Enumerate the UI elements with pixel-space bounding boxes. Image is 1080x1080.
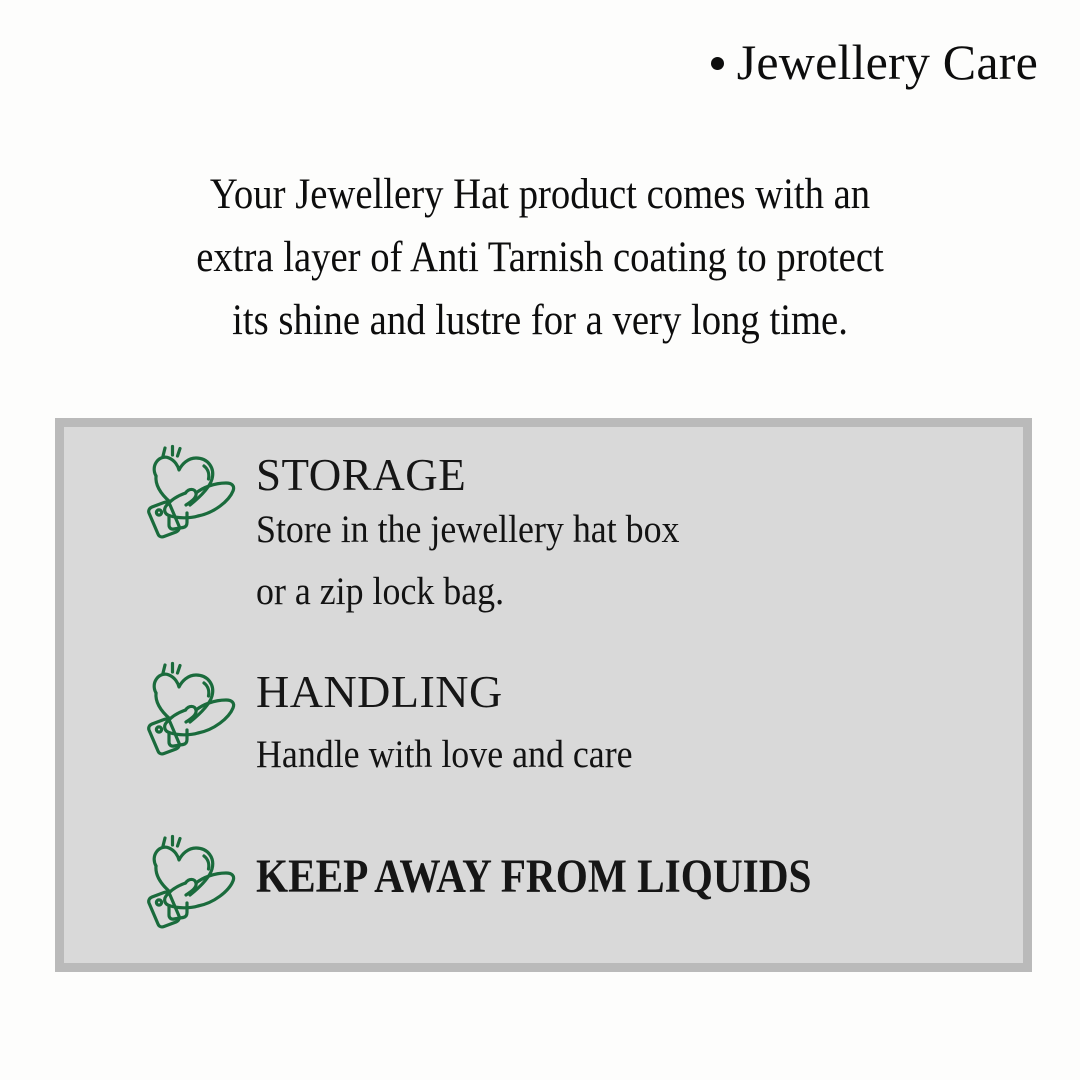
bullet-icon xyxy=(711,57,724,70)
care-item-text: STORAGE Store in the jewellery hat box o… xyxy=(256,443,716,625)
care-desc-storage-line-2: or a zip lock bag. xyxy=(256,559,679,625)
care-item-handling: HANDLING Handle with love and care xyxy=(142,660,665,784)
care-heading-storage: STORAGE xyxy=(256,449,716,501)
heart-in-hand-icon xyxy=(142,660,242,760)
intro-paragraph: Your Jewellery Hat product comes with an… xyxy=(108,163,972,352)
heart-in-hand-icon xyxy=(142,443,242,543)
page-title-label: Jewellery Care xyxy=(737,34,1038,90)
page-title: Jewellery Care xyxy=(711,34,1038,92)
intro-line-1: Your Jewellery Hat product comes with an xyxy=(108,163,972,226)
care-item-keep-away-from-liquids: KEEP AWAY FROM LIQUIDS xyxy=(142,833,902,933)
care-heading-handling: HANDLING xyxy=(256,666,665,718)
intro-line-3: its shine and lustre for a very long tim… xyxy=(108,289,972,352)
care-instructions-box: STORAGE Store in the jewellery hat box o… xyxy=(55,418,1032,972)
heart-in-hand-icon xyxy=(142,833,242,933)
care-desc-storage-line-1: Store in the jewellery hat box xyxy=(256,501,679,559)
care-item-text: KEEP AWAY FROM LIQUIDS xyxy=(256,833,902,903)
care-heading-keep-away-from-liquids: KEEP AWAY FROM LIQUIDS xyxy=(256,851,811,903)
care-instructions-list: STORAGE Store in the jewellery hat box o… xyxy=(64,427,1023,963)
care-item-storage: STORAGE Store in the jewellery hat box o… xyxy=(142,443,716,625)
care-desc-handling-line-1: Handle with love and care xyxy=(256,726,633,784)
intro-line-2: extra layer of Anti Tarnish coating to p… xyxy=(108,226,972,289)
care-item-text: HANDLING Handle with love and care xyxy=(256,660,665,784)
